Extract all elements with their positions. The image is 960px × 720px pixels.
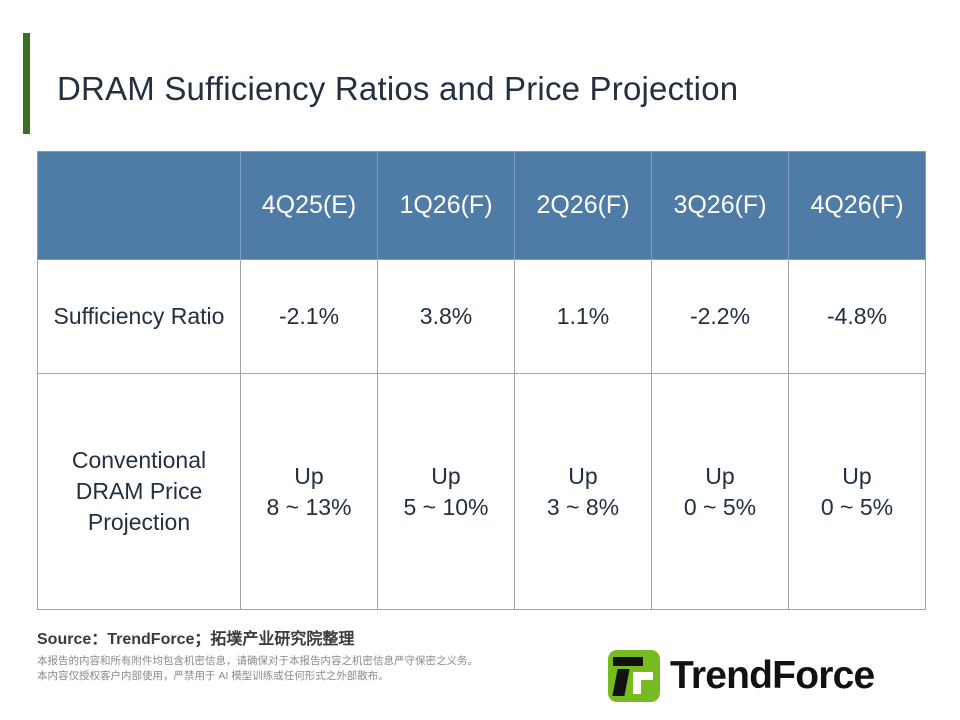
- cell-sufficiency-3q26: -2.2%: [652, 260, 789, 374]
- cell-price-2q26: Up3 ~ 8%: [515, 374, 652, 610]
- cell-price-3q26: Up0 ~ 5%: [652, 374, 789, 610]
- disclaimer-text: 本报告的内容和所有附件均包含机密信息，请确保对于本报告内容之机密信息严守保密之义…: [37, 654, 478, 684]
- brand-logo-text: TrendForce: [670, 654, 874, 698]
- row-label-sufficiency-ratio: Sufficiency Ratio: [38, 260, 241, 374]
- table-row: Conventional DRAM Price Projection Up8 ~…: [38, 374, 926, 610]
- cell-price-4q26: Up0 ~ 5%: [789, 374, 926, 610]
- row-label-dram-price-projection: Conventional DRAM Price Projection: [38, 374, 241, 610]
- title-accent-bar: [23, 33, 30, 134]
- slide-canvas: DRAM Sufficiency Ratios and Price Projec…: [0, 0, 960, 720]
- cell-sufficiency-4q25: -2.1%: [241, 260, 378, 374]
- table-corner-cell: [38, 152, 241, 260]
- column-header-0: 4Q25(E): [241, 152, 378, 260]
- page-title: DRAM Sufficiency Ratios and Price Projec…: [57, 68, 917, 110]
- table-header-row: 4Q25(E) 1Q26(F) 2Q26(F) 3Q26(F) 4Q26(F): [38, 152, 926, 260]
- trendforce-logo-icon: [608, 650, 660, 702]
- table-row: Sufficiency Ratio -2.1% 3.8% 1.1% -2.2% …: [38, 260, 926, 374]
- brand-logo: TrendForce: [608, 645, 928, 707]
- cell-price-1q26: Up5 ~ 10%: [378, 374, 515, 610]
- disclaimer-line-1: 本报告的内容和所有附件均包含机密信息，请确保对于本报告内容之机密信息严守保密之义…: [37, 654, 478, 669]
- data-table-wrapper: 4Q25(E) 1Q26(F) 2Q26(F) 3Q26(F) 4Q26(F) …: [37, 151, 925, 609]
- source-line: Source：TrendForce；拓墣产业研究院整理: [37, 625, 354, 649]
- column-header-4: 4Q26(F): [789, 152, 926, 260]
- cell-price-4q25: Up8 ~ 13%: [241, 374, 378, 610]
- column-header-3: 3Q26(F): [652, 152, 789, 260]
- column-header-2: 2Q26(F): [515, 152, 652, 260]
- column-header-1: 1Q26(F): [378, 152, 515, 260]
- cell-sufficiency-4q26: -4.8%: [789, 260, 926, 374]
- cell-sufficiency-1q26: 3.8%: [378, 260, 515, 374]
- disclaimer-line-2: 本内容仅授权客户内部使用，严禁用于 AI 模型训练或任何形式之外部散布。: [37, 669, 478, 684]
- data-table: 4Q25(E) 1Q26(F) 2Q26(F) 3Q26(F) 4Q26(F) …: [37, 151, 926, 610]
- cell-sufficiency-2q26: 1.1%: [515, 260, 652, 374]
